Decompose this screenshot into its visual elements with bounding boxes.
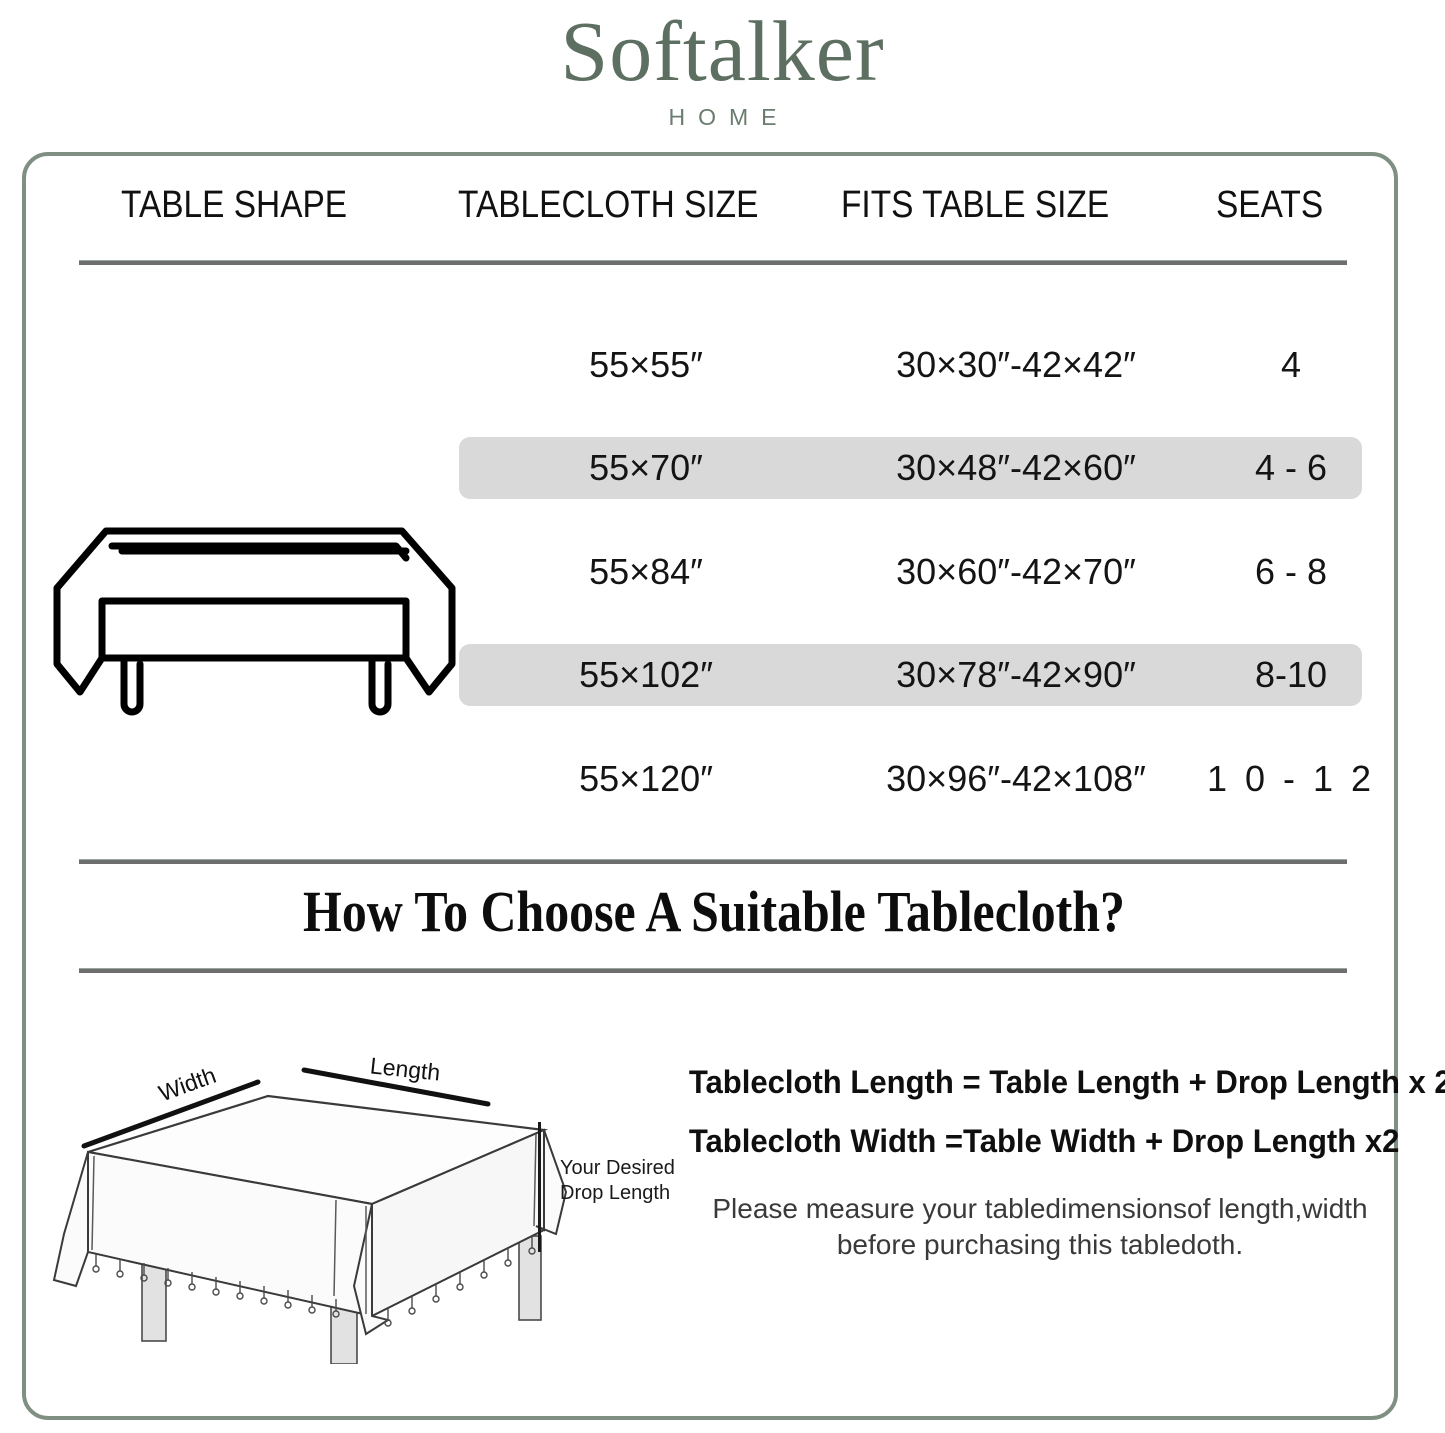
table-row: 55×70″ 30×48″-42×60″ 4 - 6 (26, 437, 1402, 499)
label-drop-length-line1: Your Desired (560, 1156, 675, 1181)
cell-tablecloth-size: 55×84″ (496, 541, 796, 603)
measure-note: Please measure your tabledimensionsof le… (678, 1191, 1402, 1263)
column-header-table-shape: TABLE SHAPE (121, 184, 347, 227)
column-header-seats: SEATS (1216, 184, 1323, 227)
section-divider-top (79, 859, 1347, 864)
cell-fits-table-size: 30×60″-42×70″ (816, 541, 1216, 603)
cell-fits-table-size: 30×78″-42×90″ (816, 644, 1216, 706)
table-row: 55×84″ 30×60″-42×70″ 6 - 8 (26, 541, 1402, 603)
cell-tablecloth-size: 55×70″ (496, 437, 796, 499)
cell-tablecloth-size: 55×55″ (496, 334, 796, 396)
brand-logo: Softalker HOME (0, 8, 1445, 131)
formula-block: Tablecloth Length = Table Length + Drop … (678, 1064, 1402, 1182)
column-header-tablecloth-size: TABLECLOTH SIZE (458, 184, 758, 227)
cell-seats: 4 - 6 (1201, 437, 1381, 499)
cell-fits-table-size: 30×96″-42×108″ (816, 748, 1216, 810)
label-drop-length-line2: Drop Length (560, 1181, 675, 1206)
brand-subtitle: HOME (0, 104, 1445, 131)
cell-fits-table-size: 30×48″-42×60″ (816, 437, 1216, 499)
label-drop-length: Your Desired Drop Length (560, 1156, 675, 1206)
size-table-header: TABLE SHAPE TABLECLOTH SIZE FITS TABLE S… (26, 184, 1402, 244)
formula-width: Tablecloth Width =Table Width + Drop Len… (689, 1123, 1391, 1160)
content-frame: TABLE SHAPE TABLECLOTH SIZE FITS TABLE S… (22, 152, 1398, 1420)
section-divider-bottom (79, 968, 1347, 973)
cell-tablecloth-size: 55×120″ (496, 748, 796, 810)
column-header-fits-table-size: FITS TABLE SIZE (841, 184, 1109, 227)
table-row: 55×102″ 30×78″-42×90″ 8-10 (26, 644, 1402, 706)
header-divider (79, 260, 1347, 265)
brand-name: Softalker (0, 8, 1445, 94)
cell-fits-table-size: 30×30″-42×42″ (816, 334, 1216, 396)
table-row: 55×55″ 30×30″-42×42″ 4 (26, 334, 1402, 396)
cell-seats: 4 (1201, 334, 1381, 396)
cell-tablecloth-size: 55×102″ (496, 644, 796, 706)
cell-seats: 6 - 8 (1201, 541, 1381, 603)
table-row: 55×120″ 30×96″-42×108″ 1 0 - 1 2 (26, 748, 1402, 810)
drop-length-measure-line (538, 1122, 541, 1252)
guide-title: How To Choose A Suitable Tablecloth? (122, 878, 1305, 945)
cell-seats: 8-10 (1201, 644, 1381, 706)
formula-length: Tablecloth Length = Table Length + Drop … (689, 1064, 1391, 1101)
cell-seats: 1 0 - 1 2 (1201, 748, 1381, 810)
